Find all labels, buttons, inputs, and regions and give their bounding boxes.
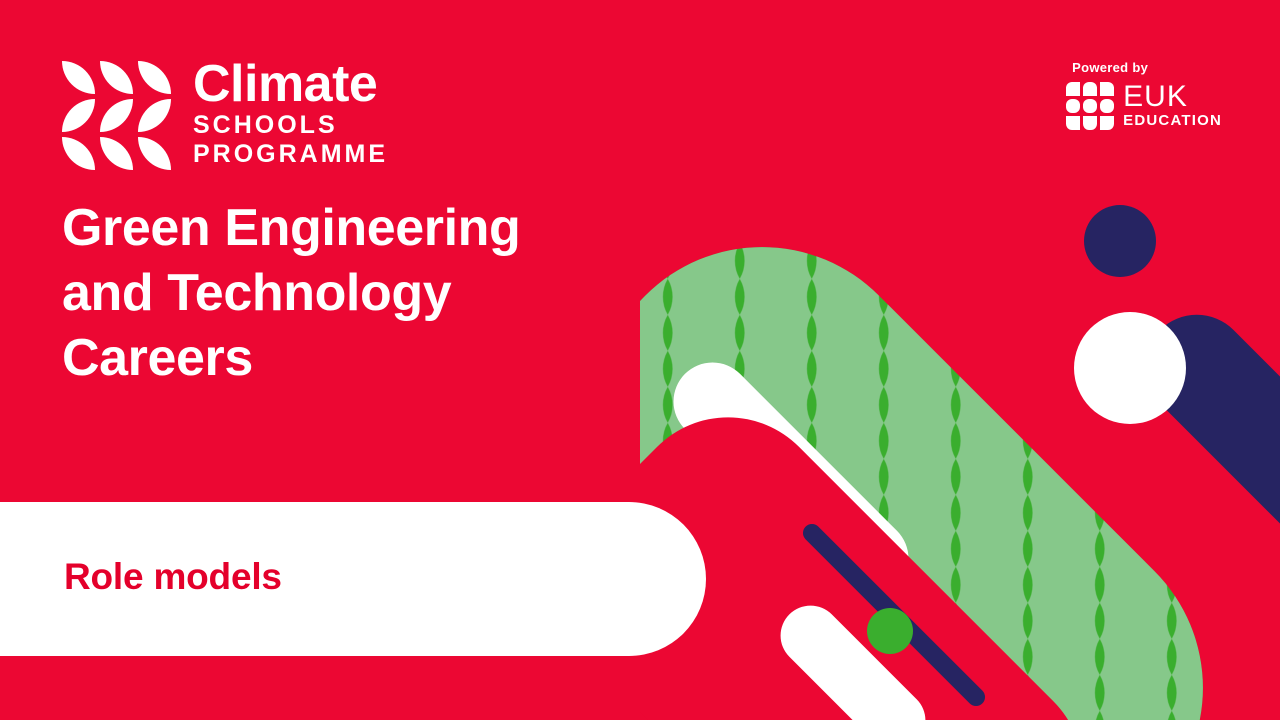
powered-by-block: Powered by EUK EDUCATION: [1066, 60, 1222, 130]
brand-name: Climate: [193, 60, 388, 109]
climate-schools-programme-logo: Climate SCHOOLS PROGRAMME: [62, 58, 388, 170]
leaf-icon: [138, 137, 171, 170]
brand-wordmark: Climate SCHOOLS PROGRAMME: [193, 58, 388, 169]
leaf-icon: [138, 61, 171, 94]
euk-block: [1100, 82, 1114, 96]
slide-title: Green Engineering and Technology Careers: [62, 196, 602, 391]
leaf-icon: [62, 99, 95, 132]
powered-by-label: Powered by: [1072, 60, 1222, 75]
slide-title-line-1: Green Engineering: [62, 196, 602, 261]
green-dot-shape: [867, 608, 913, 654]
euk-partner-name: EUK: [1123, 82, 1222, 112]
leaf-icon: [100, 137, 133, 170]
leaf-icon: [62, 61, 95, 94]
leaf-grid-icon: [62, 61, 171, 170]
euk-block-mark-icon: [1066, 82, 1114, 130]
euk-block: [1066, 82, 1080, 96]
brand-subline-programme: PROGRAMME: [193, 140, 388, 169]
euk-block: [1083, 99, 1097, 113]
euk-education-logo: EUK EDUCATION: [1066, 82, 1222, 130]
white-circle-shape: [1074, 312, 1186, 424]
slide-subtitle: Role models: [64, 556, 282, 598]
leaf-icon: [100, 61, 133, 94]
euk-block: [1083, 116, 1097, 130]
leaf-icon: [100, 99, 133, 132]
euk-block: [1066, 99, 1080, 113]
slide-title-line-2: and Technology: [62, 261, 602, 326]
euk-block: [1066, 116, 1080, 130]
euk-block: [1100, 99, 1114, 113]
euk-partner-tagline: EDUCATION: [1123, 113, 1222, 130]
leaf-icon: [62, 137, 95, 170]
slide-root: Climate SCHOOLS PROGRAMME Powered by EUK…: [0, 0, 1280, 720]
euk-wordmark: EUK EDUCATION: [1123, 82, 1222, 130]
leaf-icon: [138, 99, 171, 132]
slide-title-line-3: Careers: [62, 326, 602, 391]
euk-block: [1083, 82, 1097, 96]
navy-dot-shape: [1084, 205, 1156, 277]
brand-subline-schools: SCHOOLS: [193, 111, 388, 140]
euk-block: [1100, 116, 1114, 130]
